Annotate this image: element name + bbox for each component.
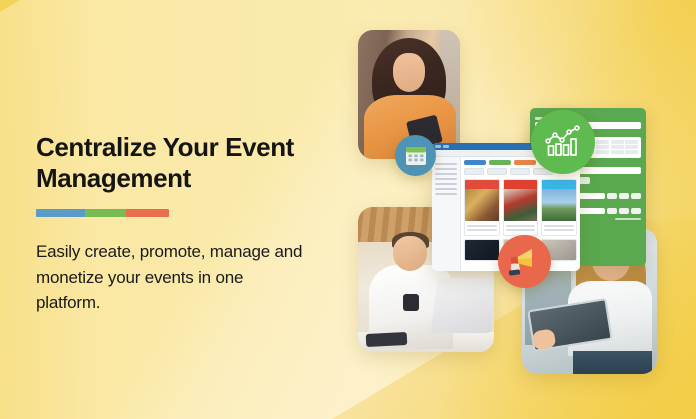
form-stepper-button[interactable] [631,193,641,199]
datepicker-day [611,150,624,154]
event-card-thumbnail [465,189,499,221]
page-title: Centralize Your Event Management [36,132,336,193]
datepicker-day [611,145,624,149]
photo-laptop [431,278,494,333]
filter-dropdown[interactable] [464,168,484,175]
filter-dropdown[interactable] [487,168,507,175]
form-footer-link[interactable] [615,218,641,221]
copy-block: Centralize Your Event Management Easily … [36,132,336,316]
dashboard-topbar-item[interactable] [443,145,449,148]
badge-calendar [395,135,436,176]
accent-rule-segment-orange [126,209,169,217]
datepicker-day [625,145,638,149]
calendar-icon [404,144,428,168]
photo-face [393,53,426,92]
promo-banner: Centralize Your Event Management Easily … [0,0,696,419]
dashboard-sidebar [432,157,461,271]
sidebar-item[interactable] [435,168,457,171]
filter-dropdown[interactable] [510,168,530,175]
sidebar-item[interactable] [435,188,457,191]
sidebar-item[interactable] [435,163,457,166]
event-card[interactable] [503,179,539,236]
event-card[interactable] [541,179,577,236]
datepicker-day [596,140,609,144]
accent-rule-segment-green [85,209,126,217]
sidebar-item[interactable] [435,178,457,181]
form-stepper-button[interactable] [631,208,641,214]
sidebar-item[interactable] [435,193,457,196]
photo-skirt [573,351,651,374]
event-card-text [504,221,538,235]
datepicker-day [596,150,609,154]
event-card[interactable] [464,239,500,261]
badge-promotion [498,235,551,288]
photo-face [393,236,427,271]
event-card-text [465,221,499,235]
sidebar-item[interactable] [435,173,457,176]
tab-events[interactable] [489,160,511,165]
dashboard-topbar-item[interactable] [435,145,441,148]
datepicker-day [611,140,624,144]
event-card-thumbnail [504,189,538,221]
form-stepper-button[interactable] [619,208,629,214]
photo-tablet-on-desk [366,332,407,347]
accent-rule-segment-blue [36,209,85,217]
datepicker-day [625,140,638,144]
photo-smartwatch [403,294,419,311]
form-stepper-button[interactable] [619,193,629,199]
accent-rule [36,209,169,217]
sidebar-item[interactable] [435,183,457,186]
form-stepper-button[interactable] [607,193,617,199]
event-card-accent [542,180,576,189]
datepicker-day [625,150,638,154]
event-card-accent [465,180,499,189]
page-subtitle: Easily create, promote, manage and monet… [36,239,306,316]
tab-dashboard[interactable] [464,160,486,165]
form-stepper-button[interactable] [607,208,617,214]
badge-analytics [531,110,595,174]
bar-chart-line-icon [545,125,581,159]
megaphone-icon [508,246,542,278]
event-card[interactable] [464,179,500,236]
datepicker-day [596,145,609,149]
image-collage [340,0,696,419]
event-card-thumbnail [465,240,499,260]
event-card-text [542,221,576,235]
event-card-thumbnail [542,189,576,221]
event-card-grid [464,179,577,236]
tab-attendees[interactable] [514,160,536,165]
event-card-accent [504,180,538,189]
